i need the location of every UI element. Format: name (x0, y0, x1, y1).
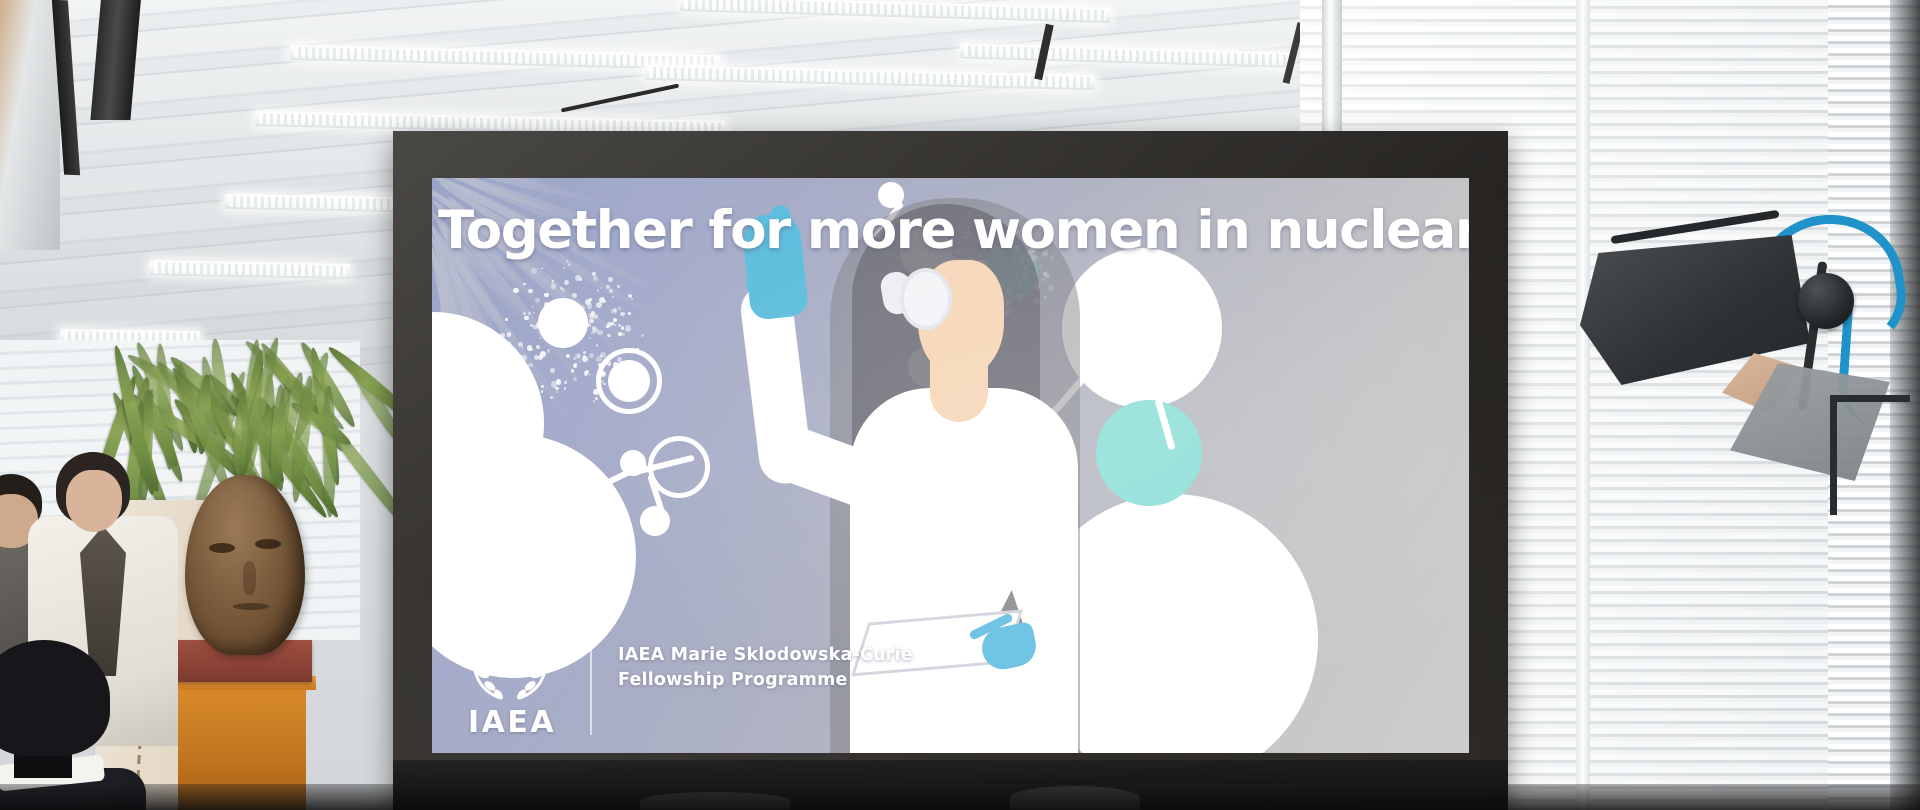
particle-dot (618, 307, 621, 310)
particle-dot (622, 333, 625, 336)
programme-name: IAEA Marie Sklodowska-Curie Fellowship P… (618, 643, 998, 694)
particle-dot (617, 285, 620, 288)
particle-dot (532, 306, 534, 308)
particle-dot (618, 324, 621, 327)
particle-dot (631, 298, 633, 300)
particle-dot (599, 390, 604, 395)
bronze-bust (185, 475, 305, 655)
iaea-wordmark: IAEA (460, 705, 564, 740)
particle-dot (573, 364, 577, 368)
bust-eye (255, 539, 281, 549)
particle-dot (547, 349, 551, 353)
particle-dot (628, 312, 631, 315)
particle-dot (593, 276, 598, 281)
particle-dot (611, 309, 616, 314)
foreground-shadow-band (0, 784, 1920, 810)
particle-dot (607, 334, 610, 337)
particle-dot (625, 325, 631, 331)
particle-dot (600, 380, 604, 384)
particle-dot (533, 312, 535, 314)
particle-dot (556, 391, 558, 393)
figure-chin (930, 346, 988, 422)
particle-dot (513, 288, 519, 294)
particle-dot (509, 348, 515, 354)
particle-dot (641, 334, 644, 337)
burst-core-circle (538, 298, 588, 348)
particle-dot (614, 381, 617, 384)
particle-dot (528, 363, 532, 367)
particle-dot (593, 400, 595, 402)
particle-dot (595, 397, 599, 401)
particle-dot (564, 387, 566, 389)
particle-dot (512, 380, 515, 383)
light-tilt-knob (1798, 273, 1854, 329)
particle-dot (620, 312, 624, 316)
photo-scene: 三 不 川 (0, 0, 1920, 810)
particle-dot (522, 384, 526, 388)
particle-dot (526, 376, 529, 379)
particle-dot (528, 312, 531, 315)
particle-dot (520, 380, 524, 384)
particle-dot (607, 361, 612, 366)
particle-dot (597, 330, 602, 335)
particle-dot (523, 366, 526, 369)
safety-goggles (900, 268, 952, 330)
particle-dot (540, 351, 546, 357)
particle-dot (608, 277, 613, 282)
particle-dot (614, 324, 616, 326)
particle-dot (539, 337, 541, 339)
ceiling-rail (0, 0, 60, 250)
molecule-ring (648, 436, 710, 498)
particle-dot (582, 356, 588, 362)
particle-dot (524, 316, 528, 320)
particle-dot (561, 288, 565, 292)
particle-dot (573, 377, 577, 381)
particle-dot (509, 342, 511, 344)
particle-dot (571, 369, 574, 372)
particle-dot (612, 296, 614, 298)
bust-nose (243, 561, 256, 595)
particle-dot (579, 361, 581, 363)
particle-dot (555, 387, 559, 391)
particle-dot (550, 396, 553, 399)
particle-dot (629, 295, 631, 297)
presentation-slide: Together for more women in nuclear (432, 178, 1469, 753)
particle-dot (611, 322, 614, 325)
particle-dot (593, 314, 599, 320)
programme-line-1: IAEA Marie Sklodowska-Curie (618, 643, 998, 668)
particle-dot (593, 389, 599, 395)
particle-dot (618, 332, 622, 336)
particle-dot (511, 361, 513, 363)
particle-dot (598, 363, 602, 367)
particle-dot (589, 353, 594, 358)
particle-dot (507, 332, 511, 336)
particle-dot (551, 283, 557, 289)
particle-dot (530, 324, 533, 327)
person-hair (0, 640, 110, 756)
particle-dot (606, 325, 609, 328)
particle-dot (500, 333, 504, 337)
particle-dot (550, 368, 555, 373)
molecule-node (640, 506, 670, 536)
slide-title: Together for more women in nuclear (438, 200, 1468, 261)
iaea-logo-lockup: IAEA IAEA Marie Sklodowska-Curie Fellows… (452, 609, 1012, 739)
particle-dot (603, 383, 606, 386)
particle-dot (534, 355, 539, 360)
particle-dot (541, 390, 544, 393)
particle-dot (505, 361, 507, 363)
particle-dot (536, 345, 540, 349)
particle-dot (572, 293, 577, 298)
particle-dot (583, 351, 586, 354)
particle-dot (524, 370, 527, 373)
iaea-atom-laurel-logo (462, 611, 558, 707)
molecule-node (562, 480, 590, 508)
studio-video-light (1540, 195, 1900, 455)
particle-dot (529, 349, 532, 352)
person-face (66, 470, 122, 532)
particle-dot (596, 344, 598, 346)
particle-dot (609, 289, 613, 293)
particle-dot (597, 289, 600, 292)
particle-dot (522, 347, 524, 349)
particle-dot (523, 312, 526, 315)
palm-leaf-blade (432, 178, 546, 186)
particle-dot (589, 337, 591, 339)
particle-dot (541, 268, 543, 270)
particle-dot (596, 302, 602, 308)
particle-dot (523, 283, 525, 285)
particle-dot (620, 362, 626, 368)
particle-dot (541, 385, 545, 389)
particle-dot (563, 267, 565, 269)
particle-dot (589, 374, 591, 376)
glove-thumb (743, 264, 781, 296)
particle-dot (520, 355, 526, 361)
bust-eye (209, 543, 235, 553)
particle-dot (584, 371, 588, 375)
particle-dot (600, 371, 606, 377)
particle-dot (613, 362, 618, 367)
particle-dot (531, 268, 537, 274)
particle-dot (566, 354, 570, 358)
particle-dot (515, 371, 520, 376)
particle-dot (535, 298, 540, 303)
bust-mouth (233, 603, 269, 610)
particle-dot (564, 280, 570, 286)
particle-dot (564, 381, 567, 384)
particle-dot (587, 303, 592, 308)
particle-dot (544, 293, 548, 297)
particle-dot (621, 326, 624, 329)
particle-dot (505, 318, 509, 322)
particle-dot (636, 348, 639, 351)
particle-dot (600, 287, 602, 289)
particle-dot (528, 289, 532, 293)
logo-divider (590, 615, 592, 735)
particle-dot (613, 318, 617, 322)
light-stand (1830, 395, 1910, 515)
flat-screen-display[interactable]: Together for more women in nuclear (393, 131, 1508, 810)
particle-dot (617, 357, 622, 362)
particle-dot (603, 300, 607, 304)
molecule-node (620, 450, 646, 476)
programme-line-2: Fellowship Programme (618, 668, 998, 693)
particle-dot (573, 357, 576, 360)
particle-dot (519, 369, 522, 372)
particle-dot (556, 379, 561, 384)
